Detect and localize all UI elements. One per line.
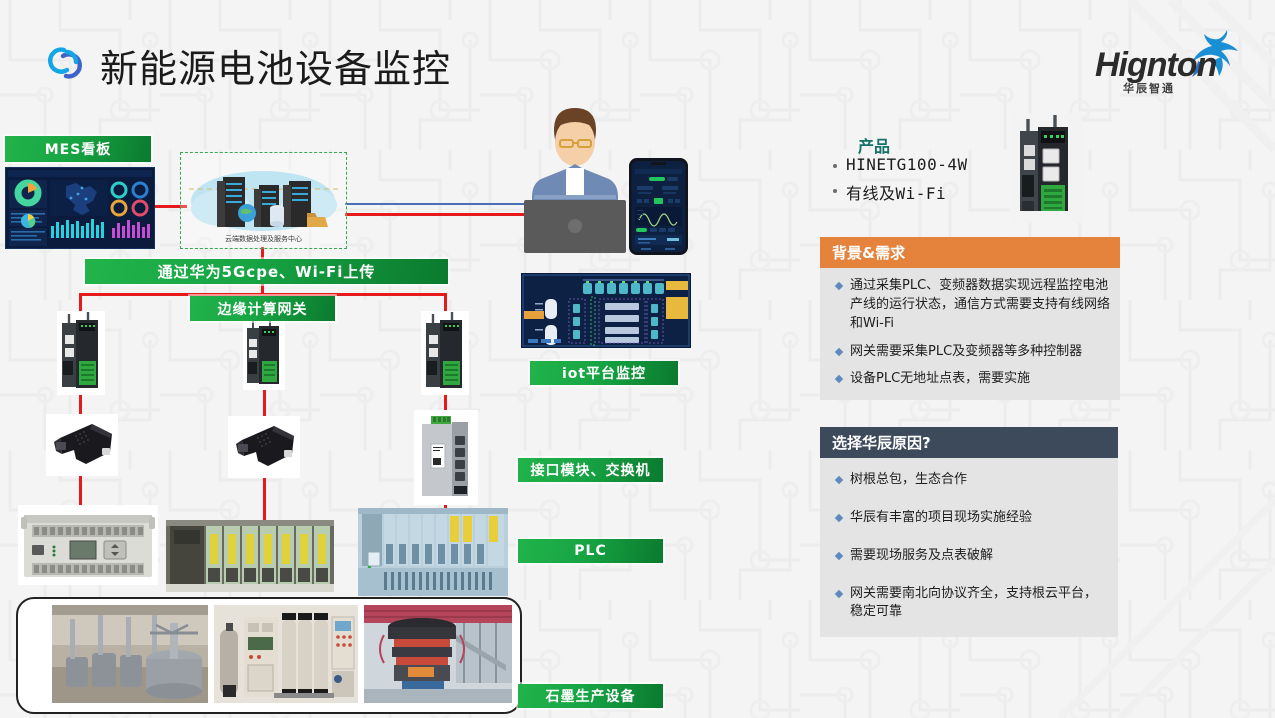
diamond-bullet-icon <box>835 476 843 484</box>
diamond-bullet-icon <box>835 514 843 522</box>
line-cloud-to-laptop <box>345 213 535 216</box>
list-item: 华辰有丰富的项目现场实施经验 <box>830 509 1108 528</box>
operator-with-laptop-illustration <box>510 100 640 255</box>
label-edge-gateway: 边缘计算网关 <box>190 296 335 321</box>
diamond-bullet-icon <box>835 589 843 597</box>
list-item: 需要现场服务及点表破解 <box>830 547 1108 566</box>
product-item-1: 有线及Wi-Fi <box>846 180 946 204</box>
modular-plc-rack-image <box>166 520 334 592</box>
card-why-hignton-title: 选择华辰原因? <box>820 427 1118 458</box>
product-bullet-dot-1 <box>833 189 837 193</box>
edge-gateway-right-image <box>421 311 469 395</box>
product-item-0: HINETG100-4W <box>846 155 968 174</box>
siemens-plc-rack-image <box>358 508 508 596</box>
card-why-hignton: 选择华辰原因? 树根总包，生态合作 华辰有丰富的项目现场实施经验 需要现场服务及… <box>820 427 1118 637</box>
list-item: 设备PLC无地址点表，需要实施 <box>830 370 1110 389</box>
product-title: 产品 <box>858 133 890 157</box>
scada-hmi-screen-image <box>521 273 691 348</box>
edge-gateway-mid-image <box>243 318 285 390</box>
bullet-text: 网关需要采集PLC及变频器等多种控制器 <box>850 343 1082 362</box>
label-mes-board: MES看板 <box>5 136 151 162</box>
label-plc: PLC <box>518 539 663 563</box>
card-why-hignton-body: 树根总包，生态合作 华辰有丰富的项目现场实施经验 需要现场服务及点表破解 网关需… <box>820 458 1118 637</box>
edge-gateway-left-image <box>57 311 105 395</box>
bullet-text: 通过采集PLC、变频器数据实现远程监控电池产线的运行状态，通信方式需要支持有线网… <box>850 277 1110 334</box>
mobile-dashboard-mockup <box>629 158 688 255</box>
label-iot-platform: iot平台监控 <box>530 361 678 385</box>
card-background-requirements: 背景&需求 通过采集PLC、变频器数据实现远程监控电池产线的运行状态，通信方式需… <box>820 237 1120 400</box>
hinetg100-4w-gateway-image <box>1010 113 1082 223</box>
diamond-bullet-icon <box>835 347 843 355</box>
label-upload-path: 通过华为5Gcpe、Wi-Fi上传 <box>85 259 448 284</box>
page-header: 新能源电池设备监控 Hignton 华辰智通 <box>0 0 1275 110</box>
bullet-text: 树根总包，生态合作 <box>850 471 967 490</box>
label-interface-switch: 接口模块、交换机 <box>518 458 663 482</box>
cloud-caption: 云端数据处理及服务中心 <box>181 234 346 244</box>
brand-subtitle: 华辰智通 <box>1123 80 1175 96</box>
cloud-data-center-panel: 云端数据处理及服务中心 <box>180 152 347 249</box>
bullet-text: 网关需要南北向协议齐全，支持根云平台，稳定可靠 <box>850 585 1108 623</box>
diamond-bullet-icon <box>835 375 843 383</box>
serial-interface-module-mid-image <box>228 416 300 478</box>
diamond-bullet-icon <box>835 282 843 290</box>
reactor-tanks-photo <box>52 605 208 703</box>
list-item: 通过采集PLC、变频器数据实现远程监控电池产线的运行状态，通信方式需要支持有线网… <box>830 277 1110 334</box>
bullet-text: 设备PLC无地址点表，需要实施 <box>850 370 1030 389</box>
page-title: 新能源电池设备监控 <box>100 38 451 93</box>
graphite-equipment-frame <box>16 597 522 714</box>
line-cloud-to-laptop-blue <box>345 203 535 205</box>
list-item: 网关需要南北向协议齐全，支持根云平台，稳定可靠 <box>830 585 1108 623</box>
industrial-ethernet-switch-image <box>414 410 478 505</box>
mes-dashboard-image <box>5 167 155 249</box>
brand-logo: Hignton 华辰智通 <box>1095 24 1243 96</box>
list-item: 网关需要采集PLC及变频器等多种控制器 <box>830 343 1110 362</box>
compact-plc-image <box>18 505 158 585</box>
list-item: 树根总包，生态合作 <box>830 471 1108 490</box>
bullet-text: 需要现场服务及点表破解 <box>850 547 993 566</box>
card-background-requirements-body: 通过采集PLC、变频器数据实现远程监控电池产线的运行状态，通信方式需要支持有线网… <box>820 268 1120 400</box>
diamond-bullet-icon <box>835 551 843 559</box>
card-background-requirements-title: 背景&需求 <box>820 237 1120 268</box>
product-bullet-dot-0 <box>833 164 837 168</box>
label-graphite-equipment: 石墨生产设备 <box>518 684 663 708</box>
graphite-furnace-photo <box>364 605 512 703</box>
interlocking-circles-logo-icon <box>40 38 90 88</box>
bullet-text: 华辰有丰富的项目现场实施经验 <box>850 509 1032 528</box>
serial-interface-module-left-image <box>46 414 118 476</box>
water-treatment-skid-photo <box>214 605 358 703</box>
